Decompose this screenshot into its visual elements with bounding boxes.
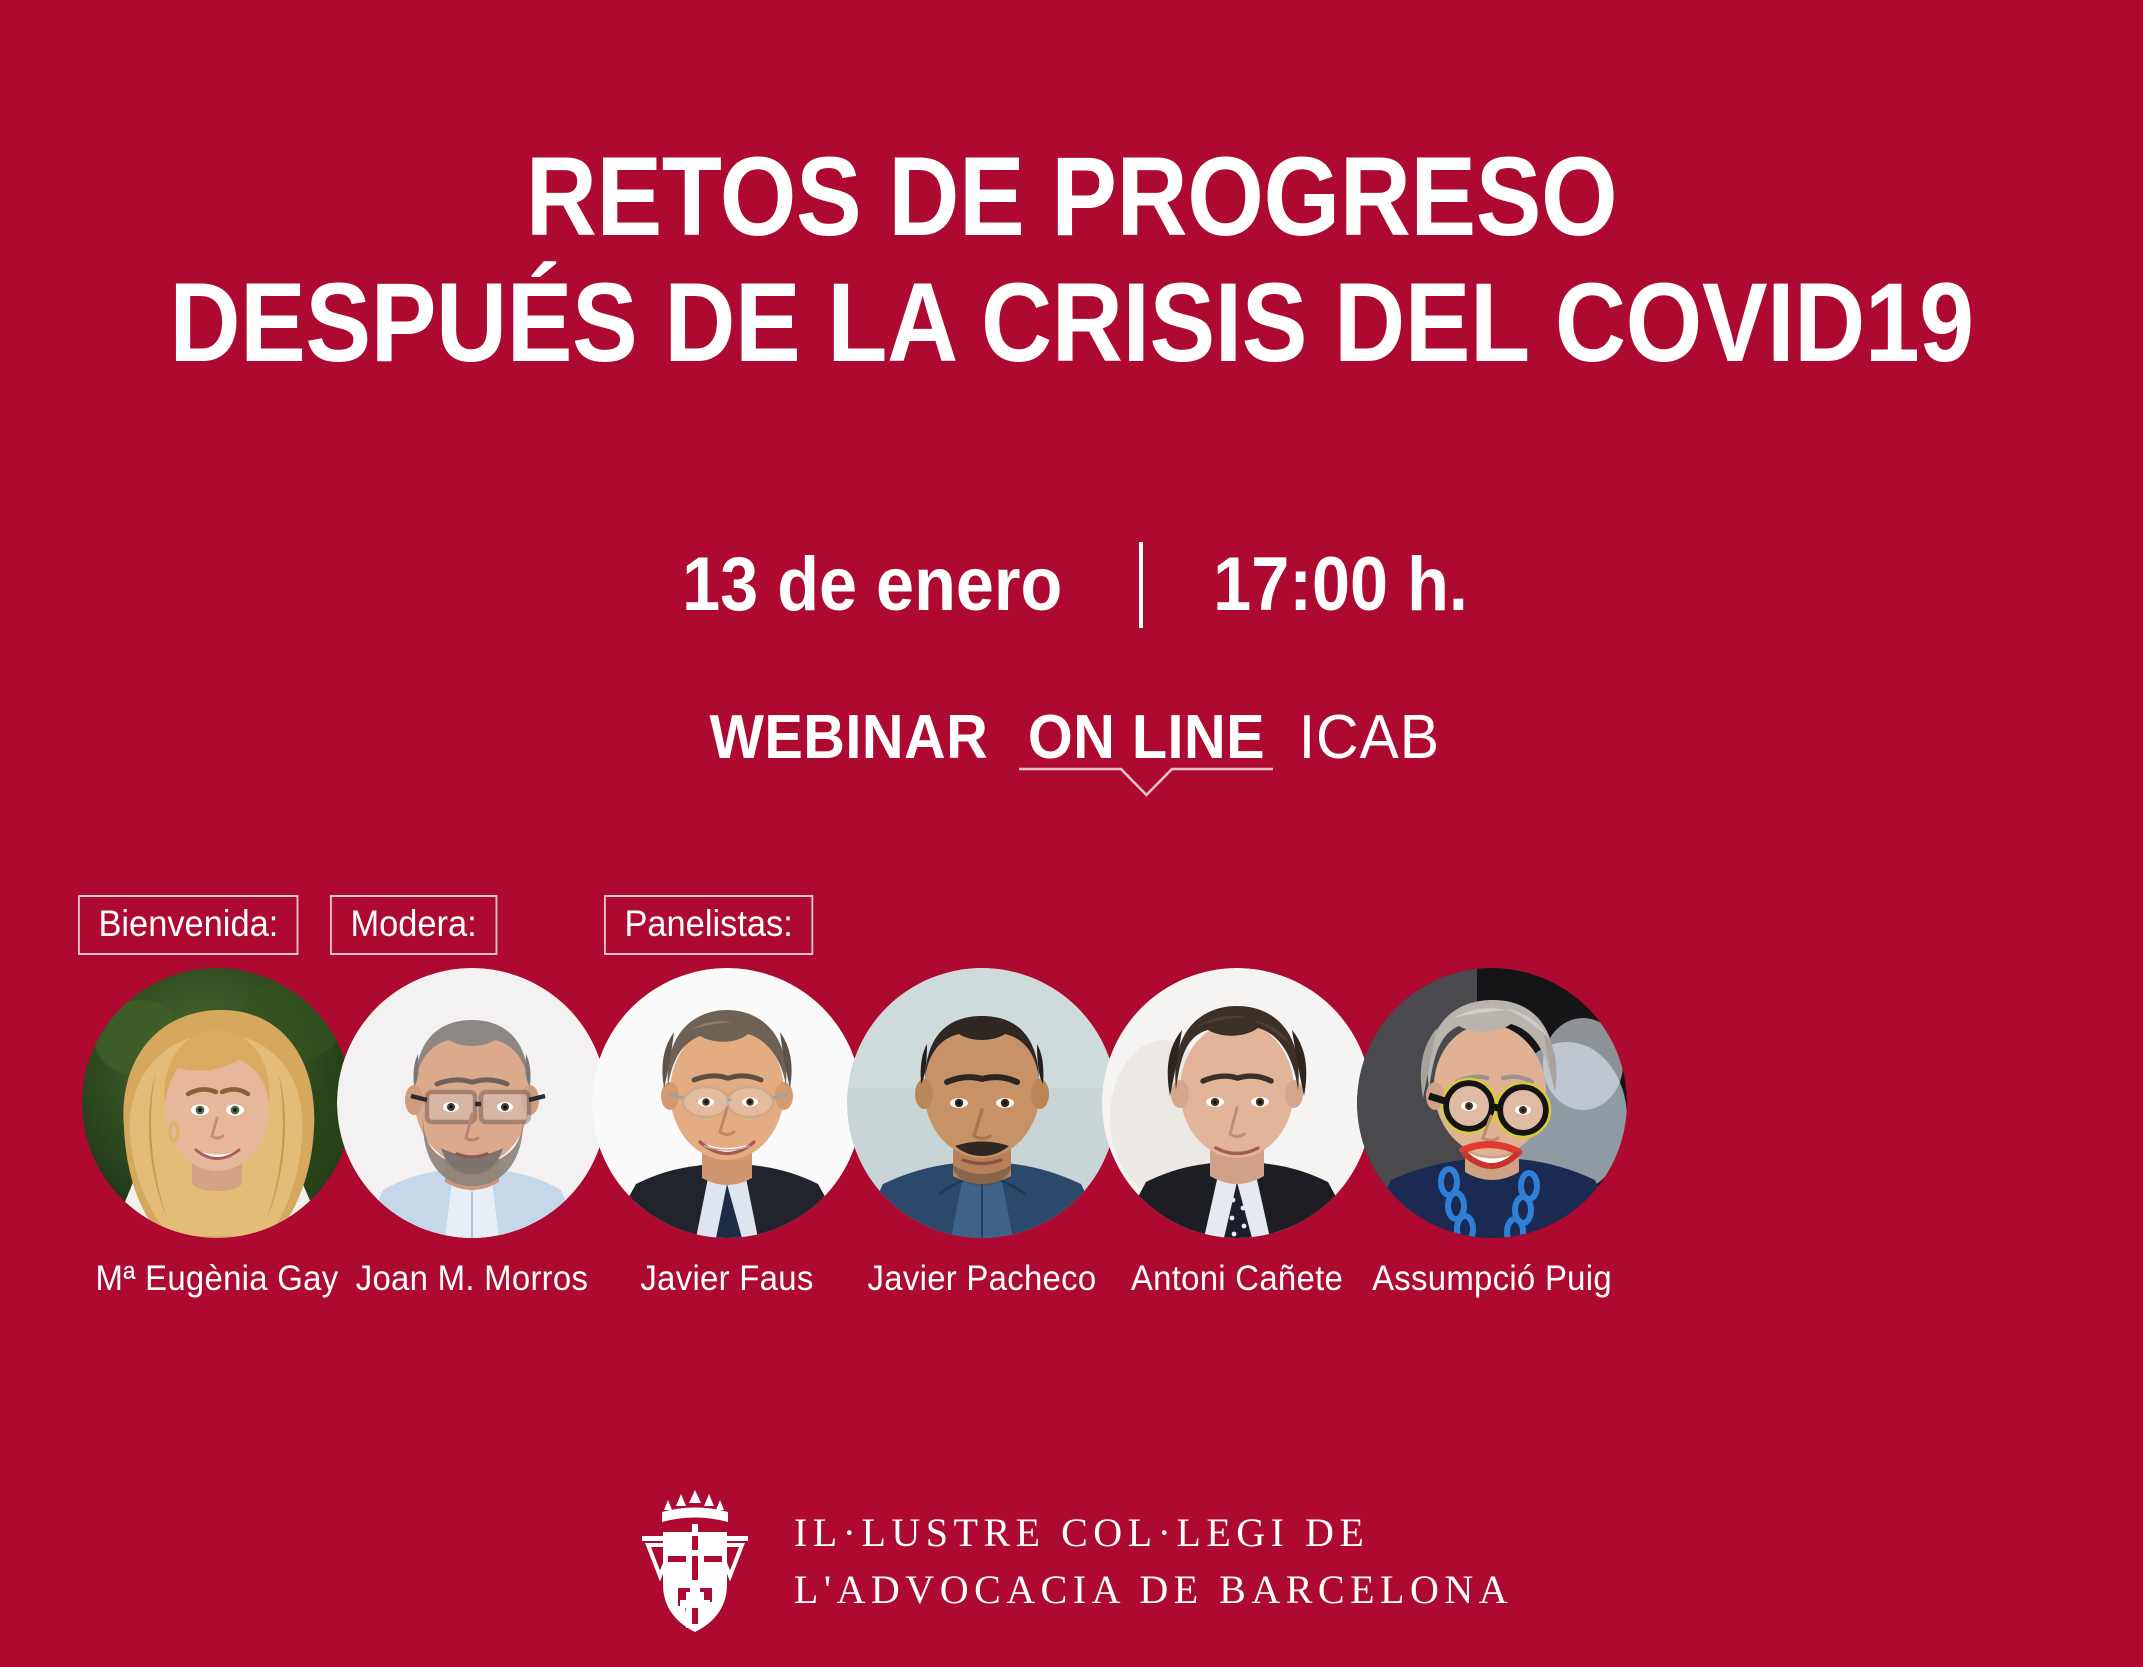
person-card: Mª Eugènia Gay xyxy=(82,968,352,1299)
person-name: Assumpció Puig xyxy=(1365,1260,1619,1299)
person-name: Joan M. Morros xyxy=(345,1260,599,1299)
role-tag-panelistas: Panelistas: xyxy=(604,895,813,955)
event-format-line: WEBINAR ON LINE ICAB xyxy=(0,702,2143,773)
title-line-1: RETOS DE PROGRESO xyxy=(129,140,2015,254)
person-card: Javier Faus xyxy=(592,968,862,1299)
format-online-label: ON LINE xyxy=(1027,702,1264,773)
person-name: Antoni Cañete xyxy=(1110,1260,1364,1299)
poster-canvas: RETOS DE PROGRESO DESPUÉS DE LA CRISIS D… xyxy=(0,0,2143,1667)
datetime-divider xyxy=(1139,542,1143,628)
icab-crest-icon xyxy=(630,1488,760,1636)
organizer-short-label: ICAB xyxy=(1299,702,1440,773)
format-online-wrap: ON LINE xyxy=(1019,702,1274,773)
avatar xyxy=(592,968,862,1238)
person-name: Mª Eugènia Gay xyxy=(90,1260,344,1299)
footer-line-2: L'ADVOCACIA DE BARCELONA xyxy=(794,1562,1513,1619)
avatar xyxy=(337,968,607,1238)
avatar xyxy=(847,968,1117,1238)
person-name: Javier Faus xyxy=(600,1260,854,1299)
footer-logo-block: IL·LUSTRE COL·LEGI DE L'ADVOCACIA DE BAR… xyxy=(0,1488,2143,1636)
format-webinar-label: WEBINAR xyxy=(709,702,988,773)
event-time: 17:00 h. xyxy=(1213,547,1468,623)
event-date: 13 de enero xyxy=(682,547,1062,623)
avatar xyxy=(82,968,352,1238)
title-line-2: DESPUÉS DE LA CRISIS DEL COVID19 xyxy=(129,266,2015,380)
speech-bubble-underline-icon xyxy=(1019,765,1274,797)
person-name: Javier Pacheco xyxy=(855,1260,1109,1299)
role-tag-modera: Modera: xyxy=(330,895,497,955)
avatar xyxy=(1102,968,1372,1238)
footer-line-1: IL·LUSTRE COL·LEGI DE xyxy=(794,1505,1513,1562)
poster-title: RETOS DE PROGRESO DESPUÉS DE LA CRISIS D… xyxy=(0,140,2143,380)
event-datetime: 13 de enero 17:00 h. xyxy=(0,542,2143,628)
person-card: Joan M. Morros xyxy=(337,968,607,1299)
person-card: Antoni Cañete xyxy=(1102,968,1372,1299)
role-tag-bienvenida: Bienvenida: xyxy=(78,895,299,955)
footer-org-name: IL·LUSTRE COL·LEGI DE L'ADVOCACIA DE BAR… xyxy=(794,1505,1513,1619)
person-card: Assumpció Puig xyxy=(1357,968,1627,1299)
person-card: Javier Pacheco xyxy=(847,968,1117,1299)
avatar xyxy=(1357,968,1627,1238)
